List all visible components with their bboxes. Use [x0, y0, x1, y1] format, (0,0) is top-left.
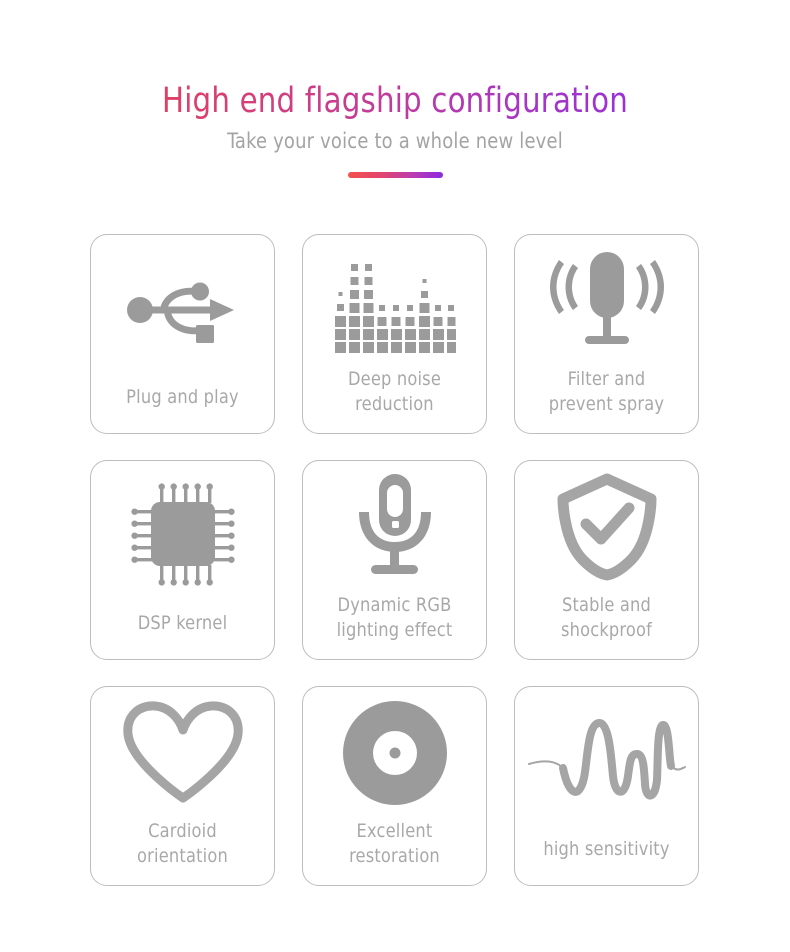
feature-grid: Plug and play [90, 234, 702, 886]
feature-label: Dynamic RGB lighting effect [308, 593, 482, 643]
microphone-stand-icon [303, 461, 486, 593]
feature-card-filter-prevent-spray[interactable]: Filter and prevent spray [514, 234, 699, 434]
page-subtitle: Take your voice to a whole new level [20, 128, 771, 154]
feature-label: DSP kernel [96, 611, 270, 636]
usb-icon [91, 235, 274, 385]
feature-card-high-sensitivity[interactable]: high sensitivity [514, 686, 699, 886]
feature-label: high sensitivity [520, 837, 694, 862]
feature-label: Deep noise reduction [308, 367, 482, 417]
microphone-waves-icon [515, 235, 698, 367]
feature-card-excellent-restoration[interactable]: Excellent restoration [302, 686, 487, 886]
chip-icon [91, 461, 274, 611]
product-feature-page: High end flagship configuration Take you… [0, 0, 790, 952]
feature-card-stable-shockproof[interactable]: Stable and shockproof [514, 460, 699, 660]
shield-check-icon [515, 461, 698, 593]
feature-label: Cardioid orientation [96, 819, 270, 869]
waveform-icon [515, 687, 698, 837]
feature-label: Excellent restoration [308, 819, 482, 869]
feature-card-dsp-kernel[interactable]: DSP kernel [90, 460, 275, 660]
feature-card-deep-noise-reduction[interactable]: Deep noise reduction [302, 234, 487, 434]
feature-card-plug-and-play[interactable]: Plug and play [90, 234, 275, 434]
feature-card-dynamic-rgb[interactable]: Dynamic RGB lighting effect [302, 460, 487, 660]
gradient-divider [348, 172, 443, 178]
vinyl-disc-icon [303, 687, 486, 819]
feature-card-cardioid-orientation[interactable]: Cardioid orientation [90, 686, 275, 886]
feature-label: Stable and shockproof [520, 593, 694, 643]
page-header: High end flagship configuration Take you… [0, 0, 790, 178]
page-title: High end flagship configuration [28, 80, 763, 122]
feature-label: Filter and prevent spray [520, 367, 694, 417]
equalizer-icon [303, 235, 486, 367]
heart-outline-icon [91, 687, 274, 819]
feature-label: Plug and play [96, 385, 270, 410]
